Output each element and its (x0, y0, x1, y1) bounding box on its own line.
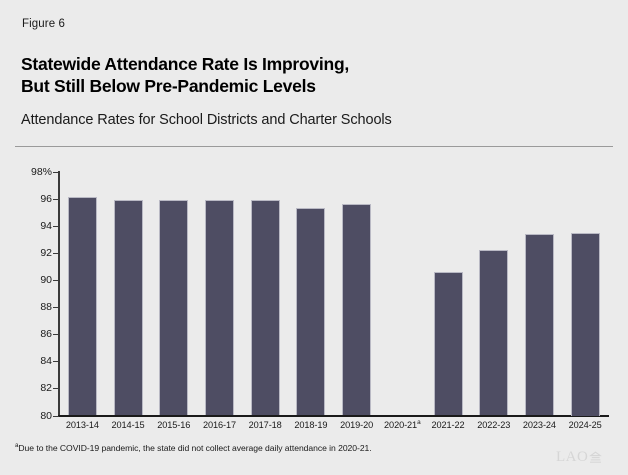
bar (68, 197, 97, 415)
bar (296, 208, 325, 415)
x-axis-tick-label: 2019-20 (334, 420, 380, 430)
y-axis-tick (53, 416, 59, 417)
y-axis-tick-label-text: 96 (10, 193, 52, 205)
y-axis-tick (53, 172, 59, 173)
x-axis-tick-label: 2015-16 (151, 420, 197, 430)
x-axis-tick-label: 2021-22 (425, 420, 471, 430)
y-axis-tick-label-text: 94 (10, 220, 52, 232)
x-axis-tick-label: 2020-21a (379, 420, 425, 430)
lao-logo: LAO (556, 446, 618, 468)
x-axis-tick-label: 2022-23 (471, 420, 517, 430)
y-axis-tick-label-text: 84 (10, 355, 52, 367)
y-axis-tick (53, 226, 59, 227)
bar (571, 233, 600, 416)
bar (434, 272, 463, 416)
bar (114, 200, 143, 416)
y-axis-tick-label: 80 (6, 410, 52, 422)
lao-logo-text: LAO (556, 450, 588, 465)
y-axis-tick-label: 92 (6, 247, 52, 259)
x-axis-tick-label: 2017-18 (242, 420, 288, 430)
x-axis-tick-label: 2013-14 (60, 420, 106, 430)
y-axis-tick-label: 84 (6, 355, 52, 367)
y-axis-tick-label: 90 (6, 274, 52, 286)
y-axis-tick (53, 334, 59, 335)
y-axis-tick (53, 388, 59, 389)
y-axis-tick-label: 88 (6, 301, 52, 313)
capitol-book-icon (589, 450, 602, 465)
y-axis-tick-label-text: 98% (10, 166, 52, 178)
x-axis-tick-label: 2014-15 (105, 420, 151, 430)
footnote: aDue to the COVID-19 pandemic, the state… (15, 443, 535, 453)
x-axis-tick-label: 2023-24 (517, 420, 563, 430)
y-axis-tick-label-text: 88 (10, 301, 52, 313)
y-axis-tick-label: 98% (6, 166, 52, 178)
bar (525, 234, 554, 416)
bar-chart-plot: 80828486889092949698% 2013-142014-152015… (0, 0, 628, 475)
x-axis-tick-label: 2024-25 (562, 420, 608, 430)
y-axis-tick-label: 96 (6, 193, 52, 205)
y-axis-tick-label-text: 90 (10, 274, 52, 286)
bar (159, 200, 188, 416)
y-axis-tick-label: 86 (6, 328, 52, 340)
bar (479, 250, 508, 415)
x-axis-tick-label: 2018-19 (288, 420, 334, 430)
y-axis-tick (53, 307, 59, 308)
x-axis-tick-label: 2016-17 (197, 420, 243, 430)
y-axis-tick-label: 82 (6, 382, 52, 394)
figure-container: Figure 6 Statewide Attendance Rate Is Im… (0, 0, 628, 475)
footnote-text: Due to the COVID-19 pandemic, the state … (18, 443, 371, 453)
y-axis-tick (53, 280, 59, 281)
y-axis-tick-label: 94 (6, 220, 52, 232)
y-axis-tick (53, 253, 59, 254)
y-axis-tick-label-text: 86 (10, 328, 52, 340)
y-axis-tick-label-text: 82 (10, 382, 52, 394)
bar (342, 204, 371, 415)
y-axis-tick-label-text: 80 (10, 410, 52, 422)
y-axis-tick (53, 199, 59, 200)
y-axis-tick-label-text: 92 (10, 247, 52, 259)
bar (251, 200, 280, 416)
x-axis-label-footnote-marker: a (417, 419, 420, 426)
y-axis-tick (53, 361, 59, 362)
bar (205, 200, 234, 416)
y-axis-line (58, 171, 60, 417)
